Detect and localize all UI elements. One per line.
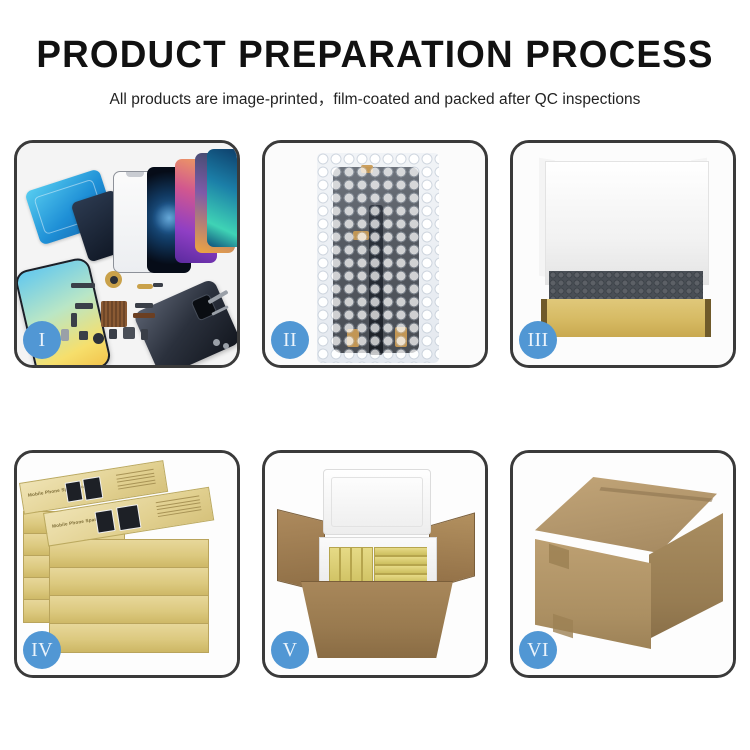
vibrator-icon [109, 329, 117, 339]
yellow-box-5 [374, 547, 427, 556]
process-panel-6: VI [510, 450, 736, 678]
flex-cable-icon [71, 283, 95, 288]
screw-head-2-icon [223, 343, 229, 349]
yellow-box-7 [374, 565, 427, 574]
yellow-box-6 [374, 556, 427, 565]
panel-badge-1: I [23, 321, 61, 359]
page-subtitle: All products are image-printed，film-coat… [0, 87, 750, 109]
panel-badge-2: II [271, 321, 309, 359]
stack-box-r4 [49, 623, 209, 653]
carton-flap-left-icon [277, 509, 325, 593]
box-window-front-2 [116, 504, 141, 531]
screw-icon [141, 329, 148, 340]
teal-gradient-phone-icon [207, 149, 240, 247]
process-panel-grid: I II III [14, 140, 736, 678]
small-chip-icon [153, 283, 163, 287]
button-icon [79, 331, 88, 340]
process-panel-2: II [262, 140, 488, 368]
bubble-wrap-overlay-icon [317, 153, 439, 363]
bracket-icon [71, 313, 77, 327]
box-window-rear-1 [65, 480, 84, 502]
screw-head-icon [213, 339, 220, 346]
panel-badge-6: VI [519, 631, 557, 669]
camera-lens-icon [93, 333, 104, 344]
process-panel-4: Mobile Phone Spare Parts Mobile Phone Sp… [14, 450, 240, 678]
panel-badge-4: IV [23, 631, 61, 669]
white-foam-lid-icon [545, 161, 709, 285]
speaker-center-icon [110, 276, 118, 284]
kraft-box-edges-icon [541, 299, 711, 337]
process-panel-3: III [510, 140, 736, 368]
stack-box-r1 [49, 539, 209, 569]
panel-badge-5: V [271, 631, 309, 669]
box-spec-lines-rear [116, 469, 156, 493]
gold-connector-icon [137, 284, 153, 289]
copper-grid-board-icon [101, 301, 127, 327]
sim-tray-icon [61, 329, 69, 341]
process-panel-5: V [262, 450, 488, 678]
stack-box-r3 [49, 595, 209, 625]
module-icon [123, 327, 135, 339]
stack-box-r2 [49, 567, 209, 597]
flex-strip-icon [75, 303, 93, 309]
carton-body-icon [301, 581, 453, 658]
process-panel-1: I [14, 140, 240, 368]
panel-badge-3: III [519, 321, 557, 359]
box-window-front-1 [94, 509, 115, 534]
ribbon-cable-2-icon [133, 313, 155, 318]
box-spec-lines-front [156, 495, 202, 520]
ribbon-cable-icon [135, 303, 153, 308]
box-window-rear-2 [82, 476, 103, 501]
foam-lid-icon [323, 469, 431, 535]
header: PRODUCT PREPARATION PROCESS All products… [0, 0, 750, 109]
page-title: PRODUCT PREPARATION PROCESS [11, 36, 739, 76]
